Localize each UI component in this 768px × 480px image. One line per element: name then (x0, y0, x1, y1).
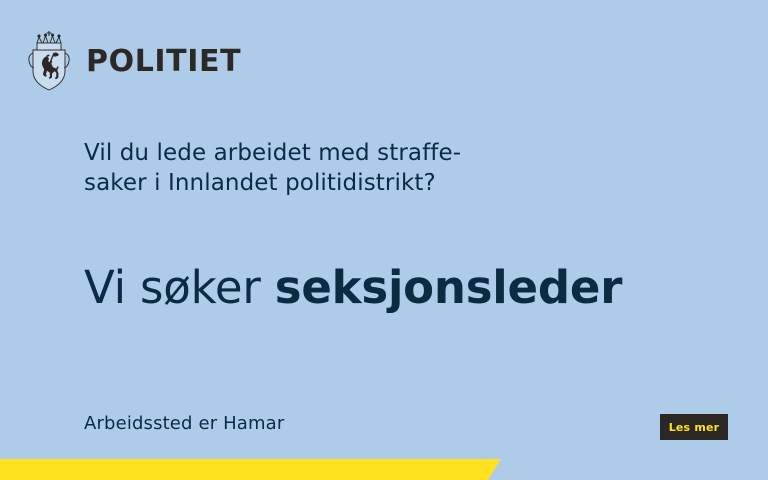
norwegian-coat-of-arms-icon (25, 31, 73, 93)
headline-strong-part: seksjonsleder (275, 261, 622, 314)
kicker-line-1: Vil du lede arbeidet med straffe- (84, 139, 554, 169)
politiet-logo[interactable]: POLITIET (25, 31, 241, 93)
workplace-location: Arbeidssted er Hamar (84, 413, 284, 434)
job-advert-banner: POLITIET Vil du lede arbeidet med straff… (0, 0, 768, 480)
les-mer-button[interactable]: Les mer (660, 414, 728, 440)
yellow-accent-wedge (0, 459, 501, 480)
kicker-line-2: saker i Innlandet politidistrikt? (84, 169, 554, 199)
kicker-text: Vil du lede arbeidet med straffe- saker … (84, 139, 554, 199)
headline: Vi søker seksjonsleder (84, 263, 622, 313)
politiet-wordmark: POLITIET (86, 47, 241, 77)
headline-light-part: Vi søker (84, 261, 275, 314)
